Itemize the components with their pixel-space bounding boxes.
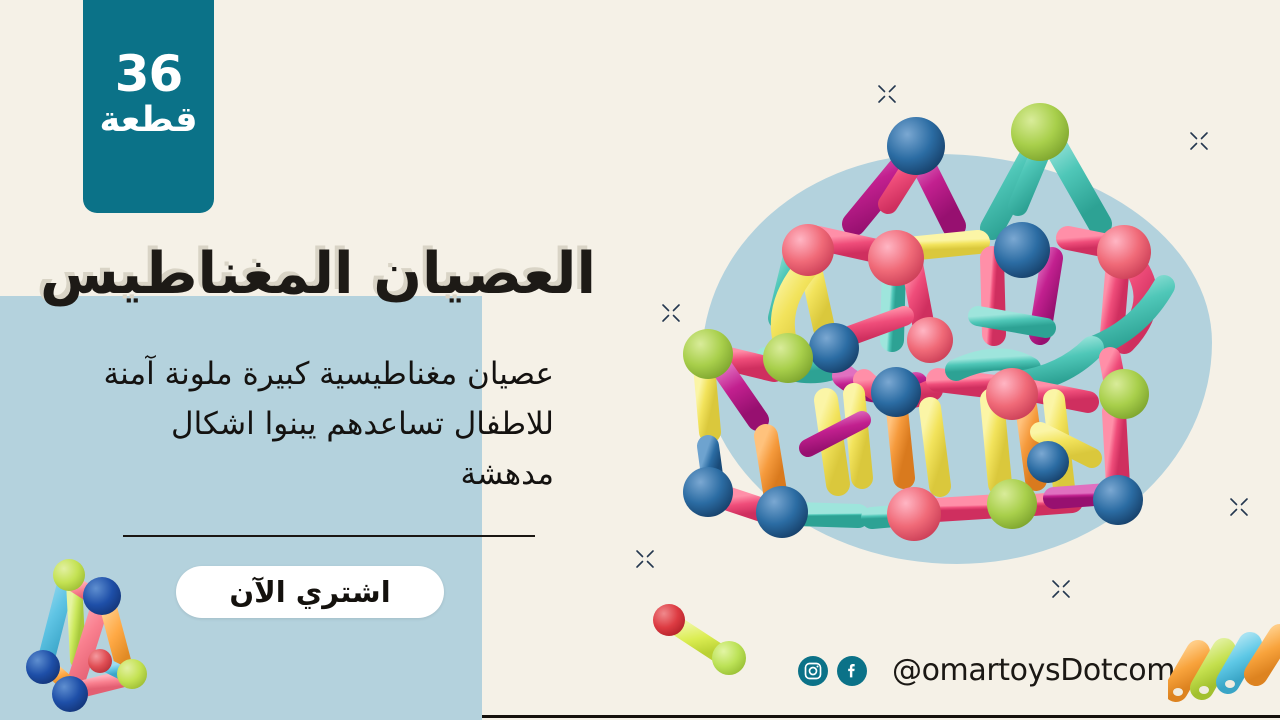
- sparkle-icon: [1050, 578, 1072, 600]
- pyramid-toy-image: [8, 548, 180, 720]
- sparkle-icon: [1188, 130, 1210, 152]
- social-handle: @omartoysDotcom: [892, 653, 1175, 688]
- buy-now-button[interactable]: اشتري الآن: [176, 566, 444, 618]
- magnetic-sticks-bundle-image: [1168, 618, 1280, 710]
- advertisement-poster: 36 قطعة العصيان المغناطيس عصيان مغناطيسي…: [0, 0, 1280, 720]
- sparkle-icon: [1228, 496, 1250, 518]
- instagram-icon[interactable]: [798, 656, 828, 686]
- facebook-icon[interactable]: [837, 656, 867, 686]
- badge-unit-label: قطعة: [100, 101, 198, 140]
- single-stick-toy-image: [645, 596, 755, 678]
- product-image: [648, 28, 1248, 588]
- page-title: العصيان المغناطيس: [40, 243, 596, 306]
- sparkle-icon: [660, 302, 682, 324]
- social-footer: @omartoysDotcom: [798, 653, 1175, 688]
- pieces-badge: 36 قطعة: [83, 0, 214, 213]
- sparkle-icon: [634, 548, 656, 570]
- product-description: عصيان مغناطيسية كبيرة ملونة آمنة للاطفال…: [74, 349, 554, 500]
- badge-count: 36: [115, 49, 183, 99]
- sparkle-icon: [876, 83, 898, 105]
- bottom-rule: [482, 715, 1280, 718]
- divider: [123, 535, 535, 537]
